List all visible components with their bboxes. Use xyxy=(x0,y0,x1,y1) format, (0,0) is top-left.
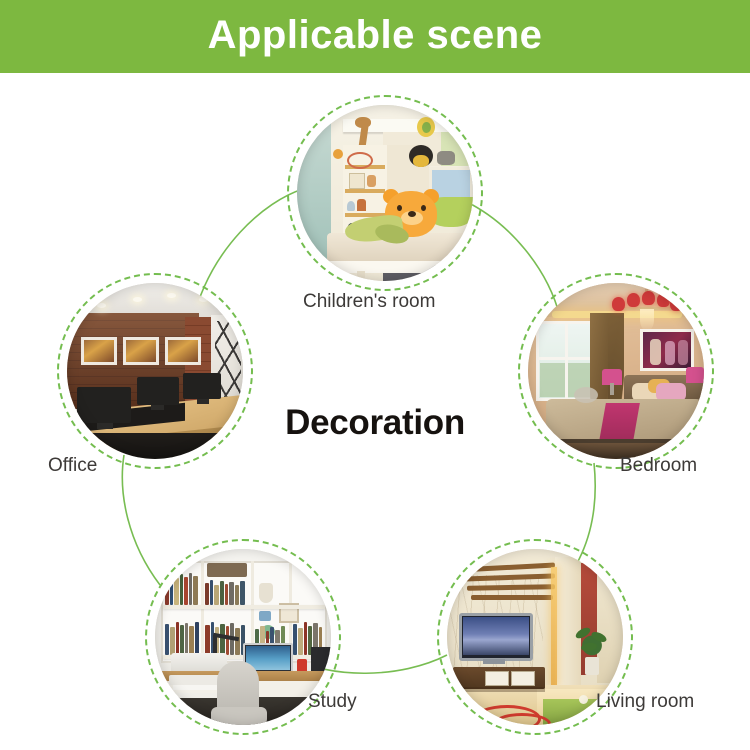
node-label-living-room: Living room xyxy=(596,691,694,713)
node-label-children-room: Children's room xyxy=(303,291,435,313)
header-bar: Applicable scene xyxy=(0,0,750,73)
office-photo xyxy=(67,283,243,459)
node-label-study: Study xyxy=(308,691,357,713)
center-label: Decoration xyxy=(215,403,535,443)
study-photo xyxy=(155,549,331,725)
applicable-scene-diagram: Decoration xyxy=(0,73,750,750)
node-label-office: Office xyxy=(48,455,97,477)
page-title: Applicable scene xyxy=(0,0,750,73)
node-children-room[interactable] xyxy=(287,95,483,291)
bedroom-photo xyxy=(528,283,704,459)
node-office[interactable] xyxy=(57,273,253,469)
node-bedroom[interactable] xyxy=(518,273,714,469)
node-label-bedroom: Bedroom xyxy=(620,455,697,477)
children-room-photo xyxy=(297,105,473,281)
